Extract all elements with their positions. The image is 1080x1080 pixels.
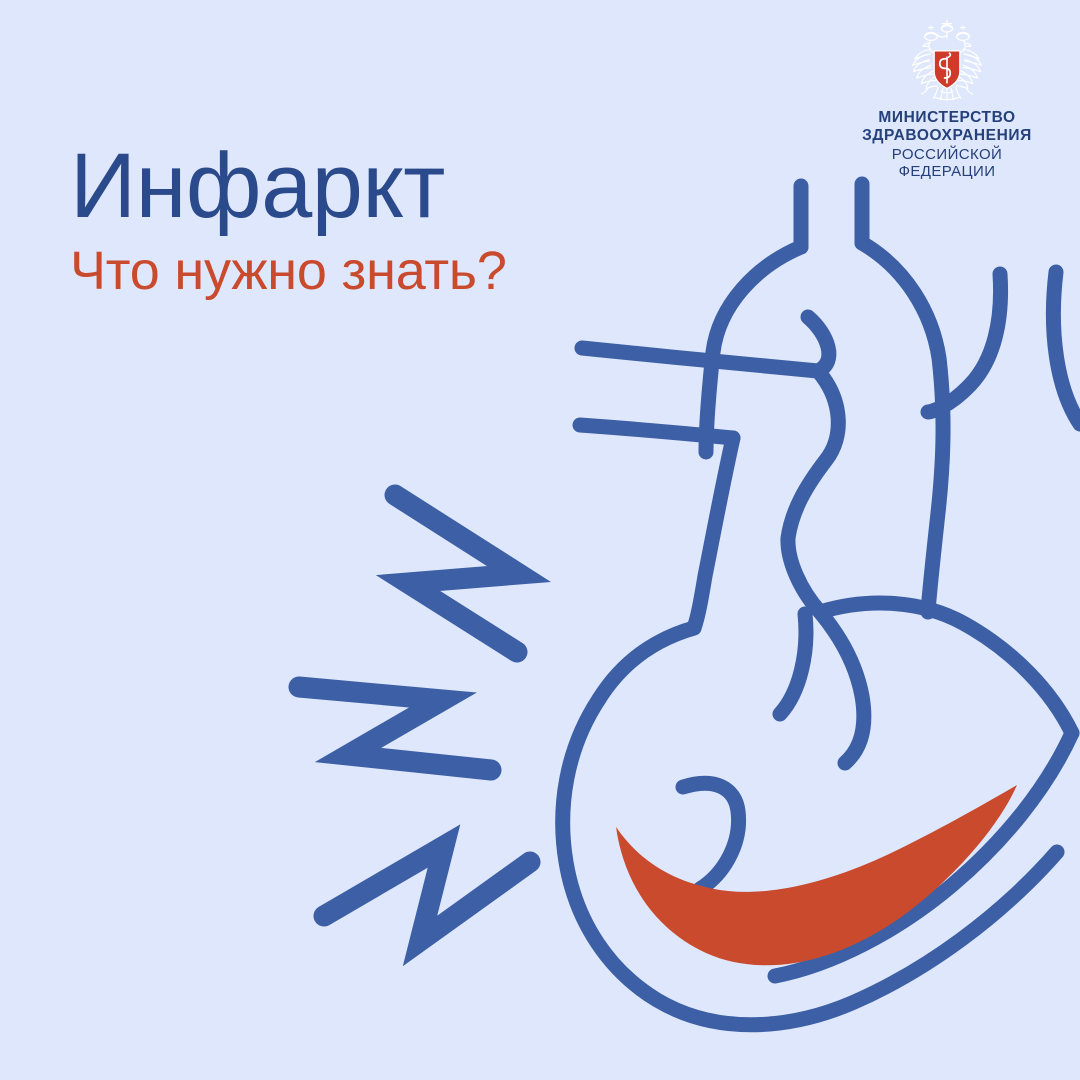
papillary-curve-b — [780, 614, 806, 714]
pain-zigzag-2 — [299, 687, 491, 770]
logo-line-1: МИНИСТЕРСТВО — [842, 109, 1052, 127]
ministry-logo-text: МИНИСТЕРСТВО ЗДРАВООХРАНЕНИЯ РОССИЙСКОЙ … — [842, 109, 1052, 181]
pain-zigzag-1 — [395, 495, 519, 652]
ventricle-upper-left-contour — [599, 628, 694, 699]
vessel-horizontal-upper — [582, 348, 818, 371]
pulmonary-trunk-right — [862, 243, 943, 612]
page-title: Инфаркт — [70, 142, 630, 230]
pain-zigzag-3 — [324, 846, 530, 941]
pain-lines-group — [299, 495, 530, 941]
vessel-inner-curve — [788, 371, 864, 763]
vessel-far-right — [1053, 272, 1080, 424]
ministry-logo: МИНИСТЕРСТВО ЗДРАВООХРАНЕНИЯ РОССИЙСКОЙ … — [842, 14, 1052, 181]
aortic-arch — [706, 247, 801, 452]
papillary-curve-a — [683, 783, 739, 889]
poster-canvas: Инфаркт Что нужно знать? — [0, 0, 1080, 1080]
headline-block: Инфаркт Что нужно знать? — [70, 142, 630, 301]
vessel-descending-left — [694, 438, 733, 628]
russian-double-headed-eagle-emblem — [899, 14, 995, 106]
page-subtitle: Что нужно знать? — [70, 242, 630, 300]
logo-line-3: РОССИЙСКОЙ ФЕДЕРАЦИИ — [842, 146, 1052, 181]
logo-line-2: ЗДРАВООХРАНЕНИЯ — [842, 127, 1052, 145]
